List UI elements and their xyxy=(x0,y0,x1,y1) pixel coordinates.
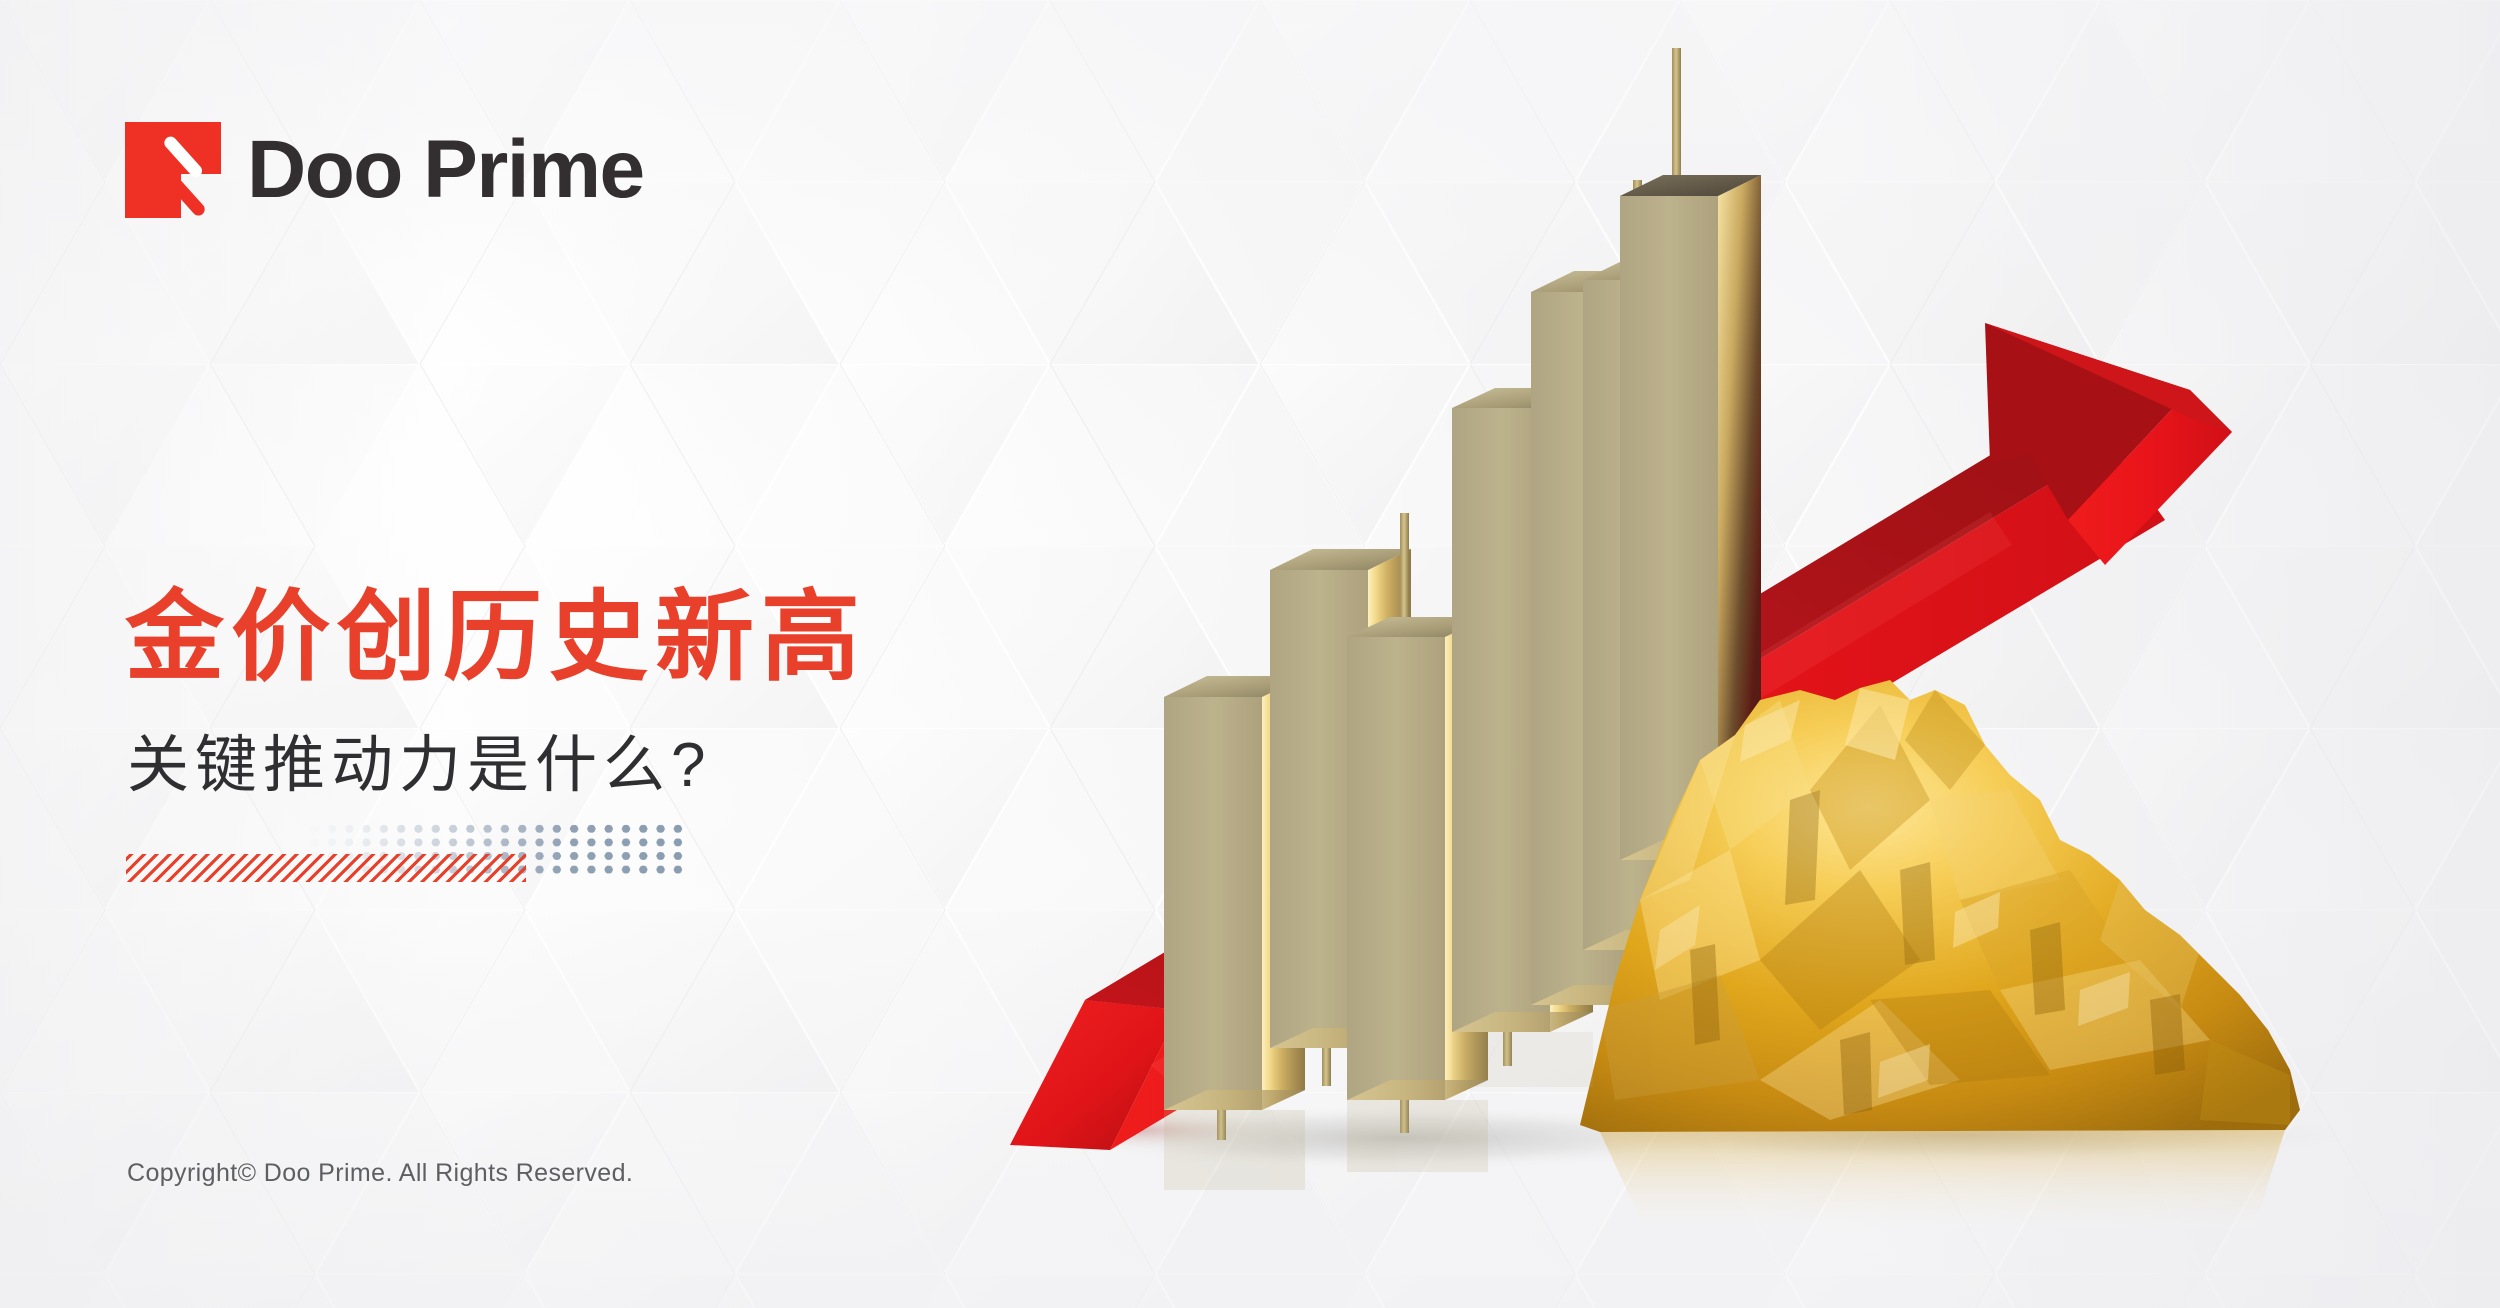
copyright-notice: Copyright© Doo Prime. All Rights Reserve… xyxy=(127,1159,633,1188)
brand-logo-text: Doo Prime xyxy=(247,129,644,211)
banner-root: Doo Prime 金价创历史新高 关键推动力是什么? Copyright© D… xyxy=(0,0,2500,1308)
page-title: 金价创历史新高 xyxy=(125,585,867,689)
decorative-divider xyxy=(126,822,686,888)
doo-prime-mark-icon xyxy=(125,122,221,218)
logo-word-doo: Doo Prime xyxy=(247,124,644,215)
brand-logo[interactable]: Doo Prime xyxy=(125,122,644,218)
red-stripe-decoration xyxy=(126,854,526,882)
page-subtitle: 关键推动力是什么? xyxy=(127,732,711,800)
